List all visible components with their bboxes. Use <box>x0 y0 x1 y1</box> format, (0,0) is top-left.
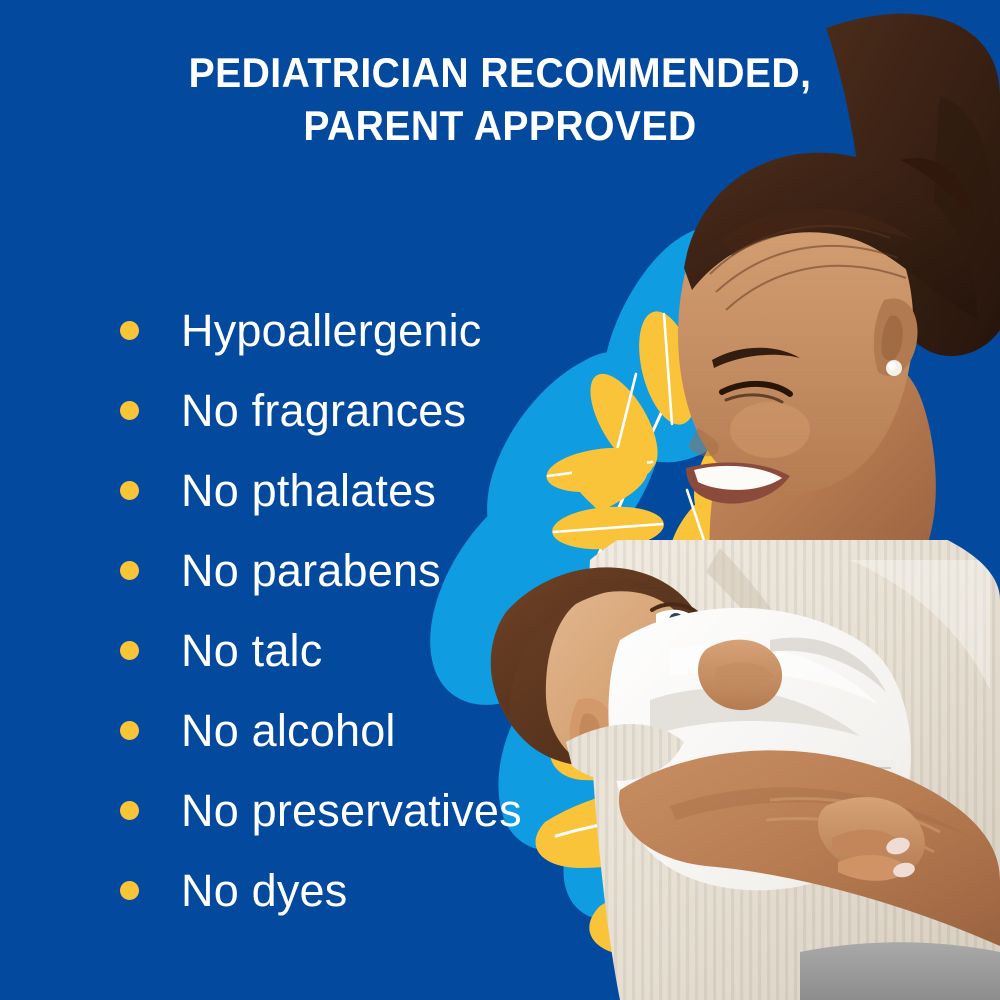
feature-list: Hypoallergenic No fragrances No pthalate… <box>112 290 582 930</box>
list-item: Hypoallergenic <box>112 290 582 370</box>
list-item: No fragrances <box>112 370 582 450</box>
list-item: No pthalates <box>112 450 582 530</box>
list-item: No parabens <box>112 530 582 610</box>
headline-line-1: PEDIATRICIAN RECOMMENDED, <box>35 46 965 99</box>
feature-label: No talc <box>181 628 322 673</box>
bullet-dot-icon <box>120 481 139 500</box>
bullet-dot-icon <box>120 641 139 660</box>
bullet-dot-icon <box>120 561 139 580</box>
bullet-dot-icon <box>120 321 139 340</box>
list-item: No dyes <box>112 850 582 930</box>
list-item: No alcohol <box>112 690 582 770</box>
feature-label: No fragrances <box>181 388 466 433</box>
feature-label: Hypoallergenic <box>181 308 481 353</box>
headline: PEDIATRICIAN RECOMMENDED, PARENT APPROVE… <box>35 46 965 152</box>
promo-poster: PEDIATRICIAN RECOMMENDED, PARENT APPROVE… <box>0 0 1000 1000</box>
feature-label: No dyes <box>181 868 347 913</box>
bullet-dot-icon <box>120 881 139 900</box>
feature-label: No parabens <box>181 548 441 593</box>
feature-label: No pthalates <box>181 468 436 513</box>
bullet-dot-icon <box>120 801 139 820</box>
list-item: No talc <box>112 610 582 690</box>
list-item: No preservatives <box>112 770 582 850</box>
feature-label: No alcohol <box>181 708 396 753</box>
feature-label: No preservatives <box>181 788 522 833</box>
bullet-dot-icon <box>120 721 139 740</box>
headline-line-2: PARENT APPROVED <box>35 99 965 152</box>
bullet-dot-icon <box>120 401 139 420</box>
